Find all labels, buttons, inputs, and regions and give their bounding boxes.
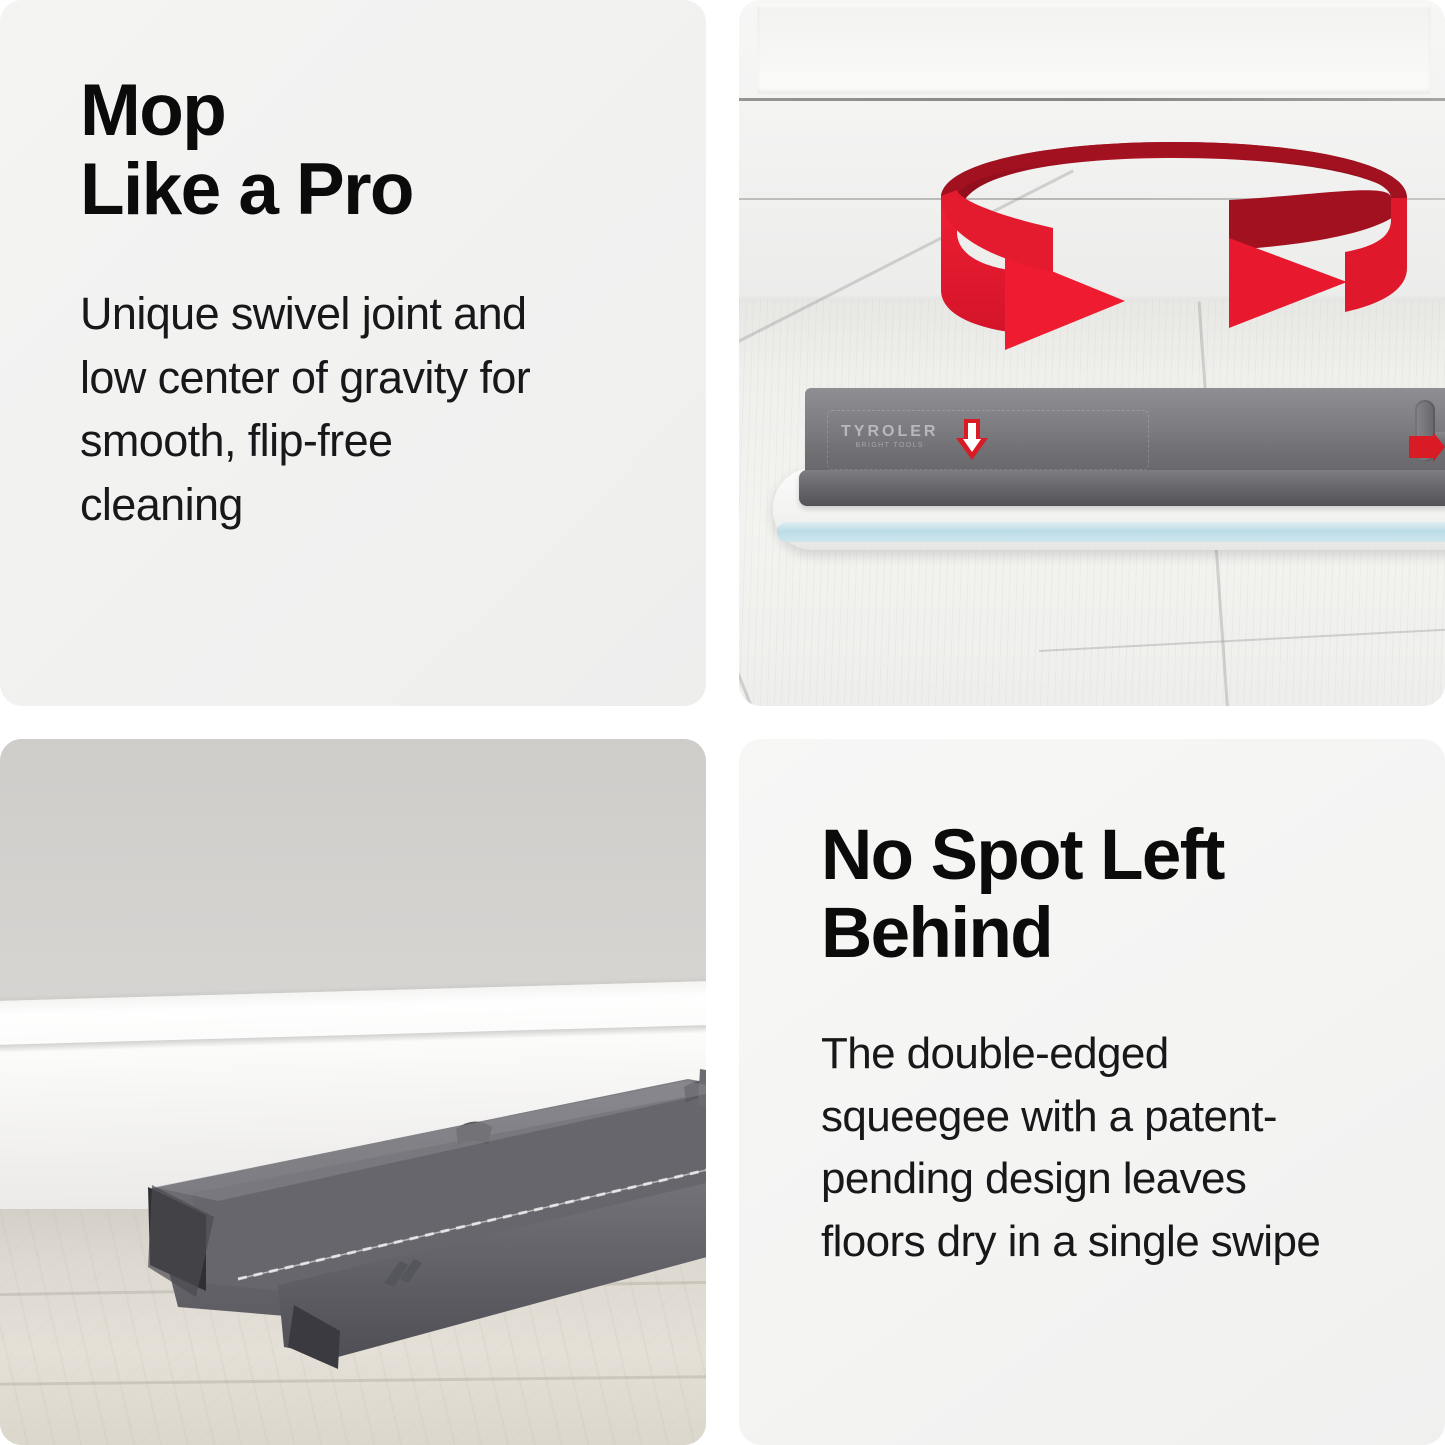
panel-swivel-mop-photo: TYROLER BRIGHT TOOLS: [739, 0, 1445, 706]
down-arrow-icon-right: [1409, 432, 1445, 462]
body-copy-top-left: Unique swivel joint and low center of gr…: [80, 282, 550, 538]
headline-no-spot-left-behind: No Spot Left Behind: [821, 817, 1397, 973]
tyroler-brand-logo: TYROLER BRIGHT TOOLS: [841, 424, 938, 449]
mop-head-squeegee-lip: [799, 470, 1445, 506]
down-arrow-icon: [955, 418, 989, 460]
headline-line-1: Mop: [80, 72, 646, 151]
copy-block-top-left: Mop Like a Pro Unique swivel joint and l…: [80, 72, 646, 537]
product-feature-collage: Mop Like a Pro Unique swivel joint and l…: [0, 0, 1445, 1445]
double-edged-squeegee: [88, 1069, 706, 1369]
panel-squeegee-photo: PATENT PENDING: [0, 739, 706, 1445]
body-copy-bottom-right: The double-edged squeegee with a patent-…: [821, 1023, 1321, 1273]
panel-no-spot-left-behind: No Spot Left Behind The double-edged squ…: [739, 739, 1445, 1445]
microfiber-pad-trim: [777, 522, 1445, 542]
copy-block-bottom-right: No Spot Left Behind The double-edged squ…: [821, 817, 1397, 1273]
headline-mop-like-a-pro: Mop Like a Pro: [80, 72, 646, 230]
panel-mop-like-a-pro: Mop Like a Pro Unique swivel joint and l…: [0, 0, 706, 706]
brand-logo-sub: BRIGHT TOOLS: [841, 442, 938, 449]
headline-line-1: No Spot: [821, 816, 1082, 895]
brand-logo-main: TYROLER: [841, 424, 938, 440]
cabinet-shadow-line-upper: [739, 98, 1445, 101]
headline-line-2: Like a Pro: [80, 151, 646, 230]
swivel-rotation-arrow-icon: [929, 140, 1419, 390]
cabinet-recess-panel: [757, 4, 1431, 94]
